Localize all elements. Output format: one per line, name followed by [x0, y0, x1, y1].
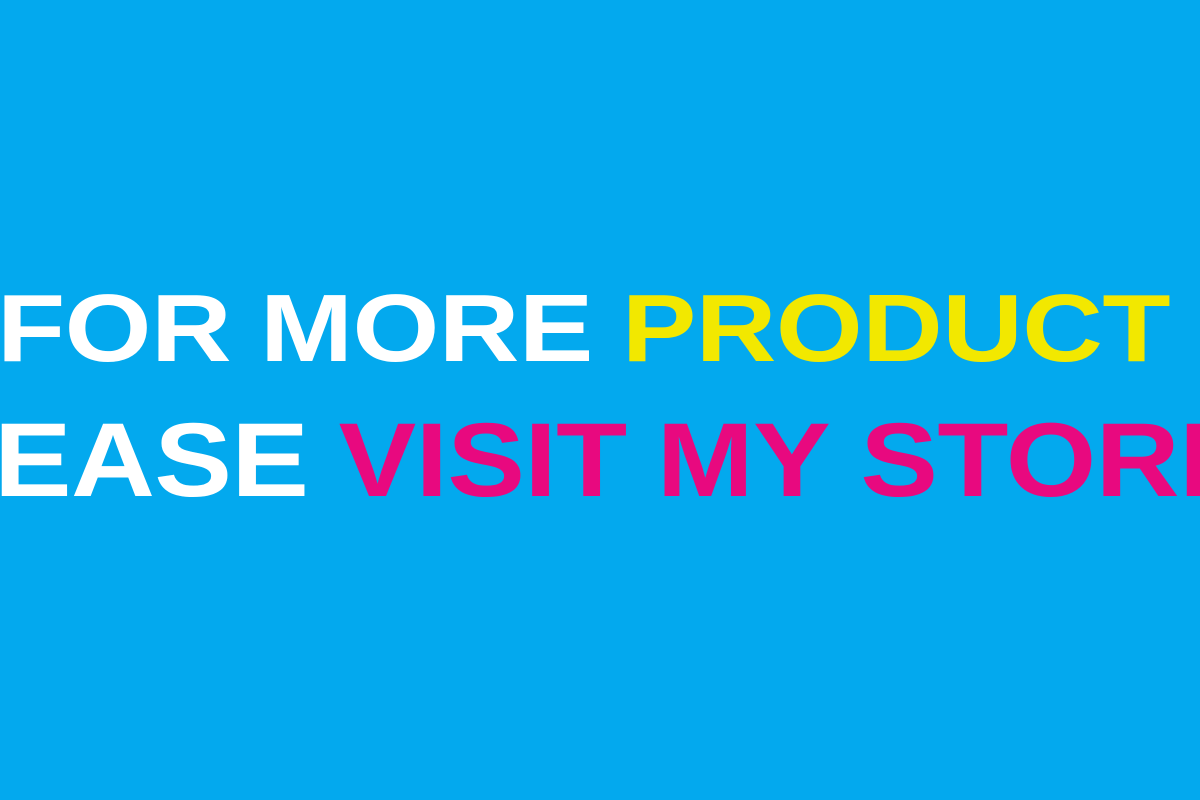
- headline-line-2: EASEVISITMYSTORE: [0, 408, 1200, 513]
- headline-line-1: FORMOREPRODUCT: [0, 281, 1170, 377]
- headline-word-visit: VISIT: [339, 402, 627, 519]
- promo-banner: FORMOREPRODUCT EASEVISITMYSTORE: [0, 0, 1200, 800]
- headline-word-for: FOR: [0, 275, 231, 382]
- headline-word-store-clipped: STORE: [860, 402, 1200, 519]
- headline-word-more: MORE: [260, 275, 593, 382]
- headline-word-my: MY: [657, 402, 830, 519]
- headline-block: FORMOREPRODUCT EASEVISITMYSTORE: [0, 0, 1200, 800]
- headline-word-product: PRODUCT: [622, 275, 1170, 382]
- headline-word-please-clipped: EASE: [0, 402, 308, 519]
